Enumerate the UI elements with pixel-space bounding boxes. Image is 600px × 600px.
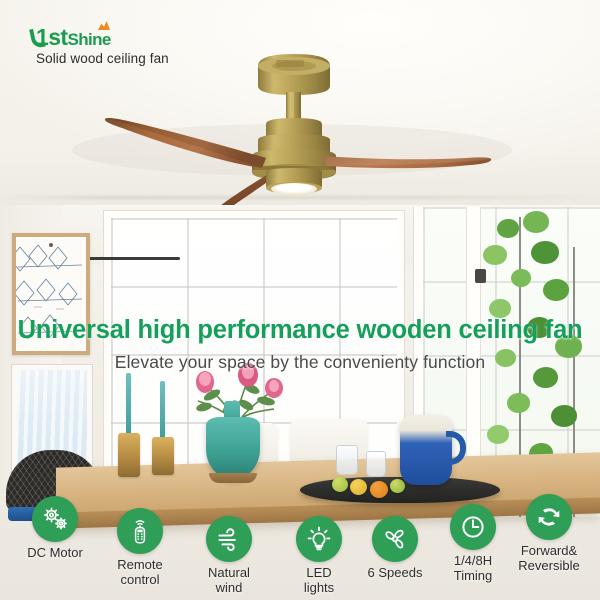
fanblade-icon: [372, 516, 418, 562]
plant-leaf: [543, 279, 569, 301]
brass-candlestick: [118, 433, 140, 477]
feature-remote-control[interactable]: Remote control: [93, 508, 187, 587]
feature-label: Natural wind: [182, 566, 276, 595]
plant-leaf: [487, 425, 509, 444]
feature-label: Remote control: [93, 558, 187, 587]
blue-pitcher: [400, 415, 452, 485]
hero-headline: Universal high performance wooden ceilin…: [0, 316, 600, 345]
reverse-icon: [526, 494, 572, 540]
plant-leaf: [511, 269, 531, 287]
plant-leaf: [497, 219, 519, 238]
art-hanging-pin: [49, 243, 53, 247]
feature-natural-wind[interactable]: Natural wind: [182, 516, 276, 595]
gears-icon: [32, 496, 78, 542]
teal-vase: [206, 417, 260, 479]
plant-leaf: [531, 241, 559, 264]
plant-leaf: [551, 405, 577, 427]
feature-label: Forward& Reversible: [498, 544, 600, 573]
brass-candlestick: [152, 437, 174, 475]
window-latch-upper: [475, 269, 486, 283]
plant-leaf: [483, 245, 507, 265]
plant-leaf: [523, 211, 549, 233]
wind-icon: [206, 516, 252, 562]
feature-forward-reversible[interactable]: Forward& Reversible: [498, 494, 600, 573]
drinking-glass: [336, 445, 358, 475]
brand-tagline: Solid wood ceiling fan: [36, 51, 169, 66]
fruit-lime: [332, 477, 348, 492]
logo-text-part2: Shine: [67, 30, 110, 49]
drinking-glass: [366, 451, 386, 477]
bulb-icon: [296, 516, 342, 562]
hero-subheadline: Elevate your space by the convenienty fu…: [0, 352, 600, 373]
brand-logo: 1stShine Solid wood ceiling fan: [36, 24, 169, 66]
plant-leaf: [507, 393, 530, 413]
taper-candle: [160, 381, 165, 439]
logo-mark: 1stShine: [36, 24, 169, 50]
remote-icon: [117, 508, 163, 554]
fruit-lime: [390, 479, 405, 493]
vase-base: [209, 473, 257, 483]
clock-icon: [450, 504, 496, 550]
taper-candle: [126, 373, 131, 435]
feature-icon-row: DC Motor: [0, 492, 600, 600]
product-banner: 1stShine Solid wood ceiling fan Universa…: [0, 0, 600, 600]
